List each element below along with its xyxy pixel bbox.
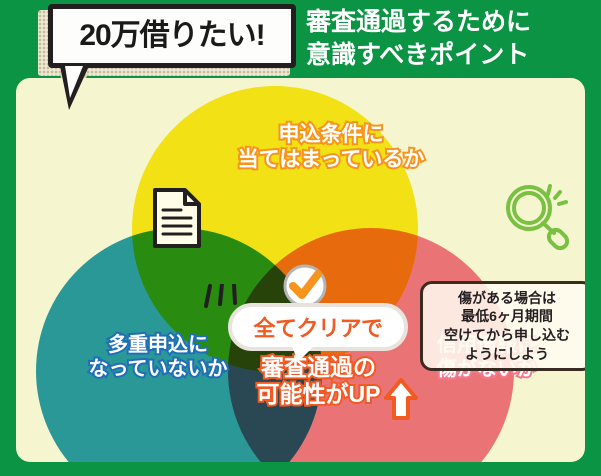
callout-line-1: 傷がある場合は	[444, 289, 570, 308]
callout-text: 傷がある場合は 最低6ヶ月期間 空けてから申し込む ようにしよう	[444, 289, 570, 363]
header-bar: 20万借りたい! 審査通過するために 意識すべきポイント	[0, 0, 601, 82]
infographic-root: 20万借りたい! 審査通過するために 意識すべきポイント	[0, 0, 601, 476]
center-speech-bubble-text: 全てクリアで	[253, 311, 382, 343]
document-icon	[151, 186, 203, 255]
center-speech-bubble: 全てクリアで	[228, 303, 408, 351]
center-headline-line-1: 審査通過の	[216, 354, 421, 381]
venn-label-application-conditions: 申込条件に 当てはまっているか	[216, 122, 446, 172]
content-panel: 申込条件に 当てはまっているか 多重申込に なっていないか 信用情報に 傷がない…	[16, 78, 585, 462]
up-arrow-icon	[384, 378, 418, 425]
callout-line-2: 最低6ヶ月期間	[444, 307, 570, 326]
header-title-line-1: 審査通過するために	[306, 6, 596, 39]
callout-box: 傷がある場合は 最低6ヶ月期間 空けてから申し込む ようにしよう	[420, 281, 585, 371]
venn-label-top-line-2: 当てはまっているか	[216, 147, 446, 172]
speech-bubble-tail	[60, 66, 89, 110]
venn-label-top-line-1: 申込条件に	[216, 122, 446, 147]
callout-line-4: ようにしよう	[444, 345, 570, 364]
callout-line-3: 空けてから申し込む	[444, 326, 570, 345]
header-title-line-2: 意識すべきポイント	[306, 39, 596, 72]
center-speech-bubble-tail	[292, 346, 314, 362]
header-title: 審査通過するために 意識すべきポイント	[306, 6, 596, 72]
magnifier-icon	[498, 176, 574, 257]
speech-bubble: 20万借りたい!	[48, 4, 296, 68]
speech-bubble-text: 20万借りたい!	[79, 21, 264, 51]
